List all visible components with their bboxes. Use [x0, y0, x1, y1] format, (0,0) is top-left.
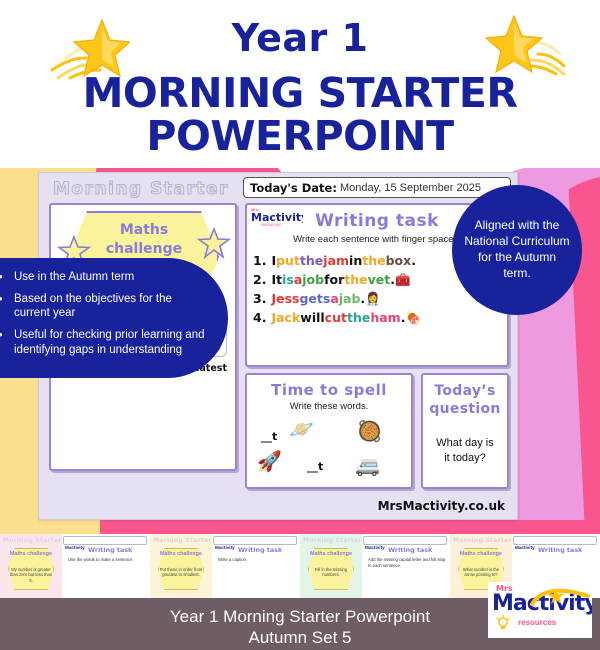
thumbnail-logo: Mactivity — [215, 545, 235, 550]
callout-bullet: Based on the objectives for the current … — [0, 292, 210, 321]
thumbnail-right-pane: MactivityWriting taskUse the words to ma… — [62, 534, 150, 600]
sentence-word: box — [386, 253, 412, 268]
thumbnail-logo: Mactivity — [515, 545, 535, 550]
sentence-word: a — [330, 291, 338, 306]
thumbnail-writing-title: Writing task — [238, 546, 282, 554]
callout-benefits: Use in the Autumn termBased on the objec… — [0, 258, 228, 378]
sentence-word: job — [302, 272, 324, 287]
sentence-word: jam — [323, 253, 349, 268]
date-value: Monday, 15 September 2025 — [340, 182, 481, 194]
sentence-word: Jack — [271, 310, 300, 325]
question-title-line2: question — [423, 401, 507, 419]
question-title: Today’s question — [423, 383, 507, 418]
question-title-line1: Today’s — [423, 383, 507, 401]
thumbnail-heading: Morning Starter — [3, 537, 62, 544]
thumbnail-writing-title: Writing task — [88, 546, 132, 554]
thumbnail-maths-sub: What number is the arrow pointing to? — [458, 567, 504, 578]
sentence-word: 🧰 — [395, 272, 411, 287]
rocket-icon: 🚀 — [257, 452, 282, 472]
question-body-line1: What day is — [423, 436, 507, 451]
thumbnail-left-pane: Morning StarterMaths challengeFill in th… — [300, 534, 362, 600]
lightbulb-icon — [496, 615, 510, 631]
mactivity-brand-logo: Mrs Mactivity resources — [488, 582, 592, 638]
spell-blank-1: __t — [261, 430, 277, 443]
sentence-word: for — [324, 272, 344, 287]
thumbnail-slide[interactable]: Morning StarterMaths challengeMy number … — [0, 534, 150, 600]
mactivity-mini-logo: Mrs Mactivity resources — [251, 208, 303, 232]
thumbnail-writing-sub: Write a caption. — [218, 557, 296, 563]
maths-challenge-title: Maths challenge — [69, 221, 219, 259]
page-title-line2: POWERPOINT — [0, 115, 600, 158]
spell-grid: __t 🪐 🥘 🚀 __t 🚐 — [247, 412, 411, 484]
todays-date-field[interactable]: Today's Date: Monday, 15 September 2025 — [243, 177, 511, 198]
sentence-number: 2. — [253, 272, 266, 287]
thumbnail-logo: Mactivity — [65, 545, 85, 550]
panel-time-to-spell: Time to spell Write these words. __t 🪐 🥘… — [245, 373, 413, 489]
thumbnail-writing-sub: Use the words to make a sentence. — [68, 557, 146, 563]
thumbnail-slide[interactable]: Morning StarterMaths challengeFill in th… — [300, 534, 450, 600]
thumbnail-date-bar — [213, 536, 297, 545]
sentence-word: a — [294, 272, 302, 287]
sentence-word: vet — [368, 272, 391, 287]
sentence-word: gets — [299, 291, 330, 306]
shooting-star-icon-right — [480, 14, 566, 76]
question-body: What day is it today? — [423, 436, 507, 466]
sentence-word: the — [362, 253, 385, 268]
footer-banner: Year 1 Morning Starter Powerpoint Autumn… — [0, 598, 600, 650]
maths-title-line1: Maths — [69, 221, 219, 240]
thumbnail-date-bar — [63, 536, 147, 545]
callout-bullet-list: Use in the Autumn termBased on the objec… — [0, 270, 210, 358]
question-body-line2: it today? — [423, 451, 507, 466]
thumbnail-maths-sub: Put these in order from greatest to smal… — [158, 567, 204, 578]
sentence-word: Jess — [271, 291, 299, 306]
page-title: MORNING STARTER POWERPOINT — [0, 72, 600, 157]
panel-todays-question: Today’s question What day is it today? — [421, 373, 509, 489]
thumbnail-heading: Morning Starter — [453, 537, 512, 544]
writing-sentence: 4.Jackwillcuttheham.🍖 — [253, 308, 507, 327]
thumbnail-maths-title: Maths challenge — [158, 551, 204, 558]
sentence-word: the — [300, 253, 323, 268]
sentence-word: jab — [339, 291, 361, 306]
spell-title: Time to spell — [247, 381, 411, 399]
sentence-word: in — [349, 253, 362, 268]
page-title-line1: MORNING STARTER — [83, 69, 518, 117]
thumbnail-left-pane: Morning StarterMaths challengeMy number … — [0, 534, 62, 600]
sentence-word: the — [344, 272, 367, 287]
thumbnail-writing-title: Writing task — [388, 546, 432, 554]
spell-blank-2: __t — [307, 460, 323, 473]
slide-heading: Morning Starter — [53, 179, 229, 199]
date-label: Today's Date: — [250, 181, 337, 195]
thumbnail-right-pane: MactivityWriting taskAdd the missing cap… — [362, 534, 450, 600]
callout-bullet: Use in the Autumn term — [0, 270, 210, 285]
thumbnail-logo: Mactivity — [365, 545, 385, 550]
shooting-star-icon-left — [50, 18, 130, 80]
poster-root: Year 1 MORNING STARTER POWERPOINT Mornin… — [0, 0, 600, 650]
thumbnail-maths-title: Maths challenge — [308, 551, 354, 558]
thumbnail-heading: Morning Starter — [153, 537, 212, 544]
van-icon: 🚐 — [355, 456, 380, 476]
sentence-word: ham — [370, 310, 400, 325]
spell-subtitle: Write these words. — [247, 401, 411, 412]
sentence-word: cut — [325, 310, 347, 325]
thumbnail-heading: Morning Starter — [303, 537, 362, 544]
sentence-word: is — [282, 272, 294, 287]
sentence-word: will — [300, 310, 324, 325]
thumbnail-maths-sub: My number is greater than zero but less … — [8, 567, 54, 583]
thumbnail-maths-sub: Fill in the missing numbers. — [308, 567, 354, 578]
thumbnail-left-pane: Morning StarterMaths challengePut these … — [150, 534, 212, 600]
sentence-word: . — [411, 253, 416, 268]
sentence-word: 👩‍⚕️ — [365, 291, 381, 306]
thumbnail-right-pane: MactivityWriting taskWrite a caption. — [212, 534, 300, 600]
sentence-word: put — [276, 253, 300, 268]
sentence-number: 3. — [253, 291, 266, 306]
medical-kit-icon: 🪐 — [289, 420, 314, 440]
sentence-word: 🍖 — [405, 310, 421, 325]
footer-title-line1: Year 1 Morning Starter Powerpoint — [170, 607, 430, 626]
callout-bullet: Useful for checking prior learning and i… — [0, 328, 210, 357]
sentence-word: the — [347, 310, 370, 325]
thumbnail-writing-sub: Add the missing capital letter and full … — [368, 557, 446, 568]
maths-title-line2: challenge — [69, 240, 219, 259]
jam-jar-icon: 🥘 — [357, 422, 382, 442]
sentence-number: 1. — [253, 253, 266, 268]
sentence-word: It — [271, 272, 282, 287]
thumbnail-maths-title: Maths challenge — [8, 551, 54, 558]
slide-footer-url: MrsMactivity.co.uk — [378, 499, 505, 513]
brand-logo-resources: resources — [518, 618, 556, 627]
thumbnail-maths-title: Maths challenge — [458, 551, 504, 558]
thumbnail-date-bar — [363, 536, 447, 545]
thumbnail-slide[interactable]: Morning StarterMaths challengePut these … — [150, 534, 300, 600]
callout-curriculum-badge: Aligned with the National Curriculum for… — [452, 185, 582, 315]
swoosh-icon — [530, 586, 590, 612]
thumbnail-writing-title: Writing task — [538, 546, 582, 554]
sentence-number: 4. — [253, 310, 266, 325]
thumbnail-date-bar — [513, 536, 597, 545]
